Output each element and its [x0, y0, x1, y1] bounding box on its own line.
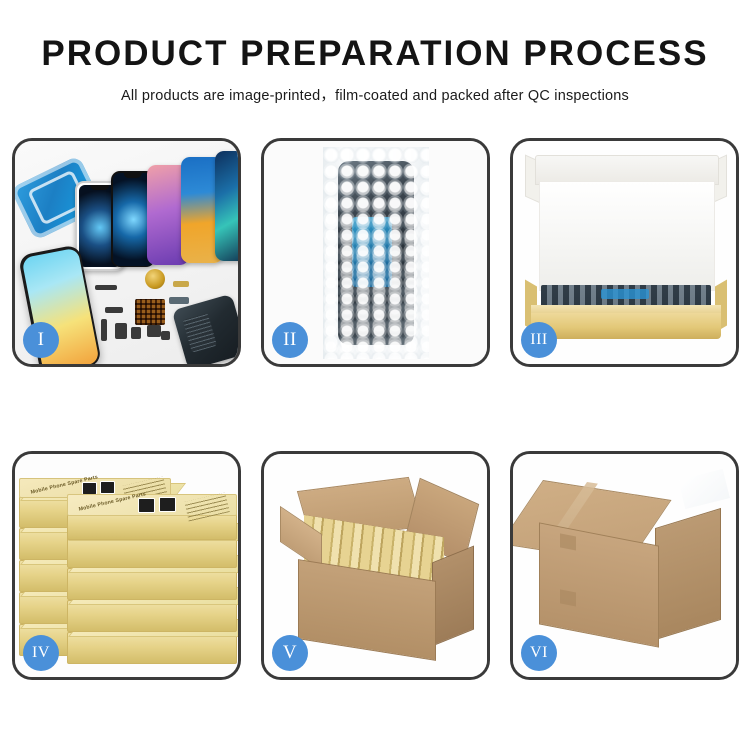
step-badge-2: II: [272, 322, 308, 358]
open-mailer-box: [525, 155, 727, 345]
page-title: PRODUCT PREPARATION PROCESS: [0, 0, 750, 73]
steps-grid: I II: [12, 138, 738, 683]
plastic-wrap-corner: [678, 469, 730, 509]
step-panel-6: VI: [510, 451, 739, 680]
step-panel-2: II: [261, 138, 490, 367]
phone-screen-5: [215, 151, 238, 261]
retail-box-f2: [67, 536, 237, 568]
flex-cable-part: [95, 285, 117, 290]
retail-box-f4: [67, 600, 237, 632]
camera-module-part: [115, 323, 127, 339]
bracket-part: [173, 281, 189, 287]
step-badge-4: IV: [23, 635, 59, 671]
button-flex-part: [169, 297, 189, 304]
bubble-highlight-texture: [323, 147, 429, 359]
carton-right-face: [655, 508, 721, 640]
foam-liner: [539, 181, 715, 291]
earpiece-part: [147, 325, 161, 337]
sim-tray-part: [101, 319, 107, 341]
carton-tab-bottom: [560, 589, 576, 606]
box-window-2: [100, 481, 115, 494]
connector-grid-part: [135, 299, 165, 325]
open-shipping-carton: [280, 484, 476, 654]
step-badge-5: V: [272, 635, 308, 671]
retail-box-f5: [67, 632, 237, 664]
page-subtitle: All products are image-printed，film-coat…: [0, 73, 750, 105]
step-badge-6: VI: [521, 635, 557, 671]
step-panel-3: III: [510, 138, 739, 367]
retail-box-f3: [67, 568, 237, 600]
box-window-3: [138, 498, 155, 513]
header: PRODUCT PREPARATION PROCESS All products…: [0, 0, 750, 105]
speaker-coil-part: [145, 269, 165, 289]
carton-side-wall: [432, 546, 474, 647]
phone-lineup: [75, 151, 238, 271]
vibrator-part: [131, 327, 141, 339]
step-badge-3: III: [521, 322, 557, 358]
step-badge-1: I: [23, 322, 59, 358]
step-panel-4: Mobile Phone Spare Parts Mobile Phone Sp…: [12, 451, 241, 680]
box-window-4: [159, 497, 176, 512]
phone-back-cover-part: [172, 294, 238, 364]
carton-tab-top: [560, 533, 576, 550]
spare-parts-cluster: [93, 267, 238, 364]
mailer-front-wall: [531, 313, 721, 339]
sealed-shipping-carton: [529, 480, 725, 658]
step-panel-1: I: [12, 138, 241, 367]
screw-part: [161, 331, 170, 340]
retail-box-label-front: Mobile Phone Spare Parts: [78, 491, 146, 512]
bubble-wrap-bag: [323, 147, 429, 359]
product-preparation-infographic: PRODUCT PREPARATION PROCESS All products…: [0, 0, 750, 750]
step-panel-5: V: [261, 451, 490, 680]
retail-box-top-front: Mobile Phone Spare Parts: [67, 494, 237, 516]
small-flex-part: [105, 307, 123, 313]
